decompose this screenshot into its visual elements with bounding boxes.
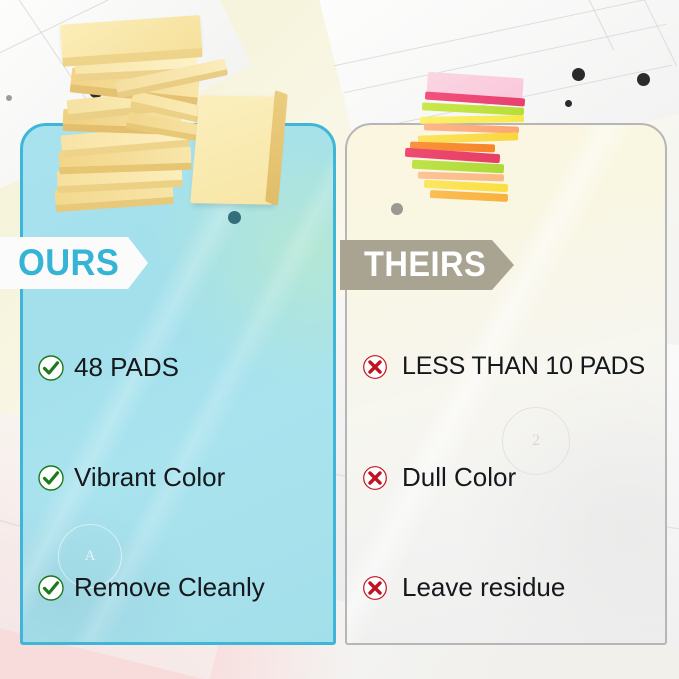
feature-label: LESS THAN 10 PADS: [402, 352, 645, 381]
feature-row: Dull Color: [362, 462, 516, 493]
cross-circle-icon: [362, 354, 388, 380]
check-circle-icon: [38, 355, 64, 381]
badge-ours-label: OURS: [18, 237, 119, 289]
cross-circle-icon: [362, 575, 388, 601]
blueprint-dot: [637, 73, 650, 86]
sticky-pad-amber: [430, 190, 508, 202]
badge-theirs: THEIRS: [340, 240, 514, 290]
infographic-canvas: A 2: [0, 0, 679, 679]
feature-label: Remove Cleanly: [74, 572, 265, 603]
check-circle-icon: [38, 465, 64, 491]
feature-label: Dull Color: [402, 462, 516, 493]
blueprint-dot: [6, 95, 12, 101]
sticky-pad-top: [60, 15, 202, 59]
feature-label: Leave residue: [402, 572, 565, 603]
feature-row: Remove Cleanly: [38, 572, 265, 603]
feature-row: Vibrant Color: [38, 462, 225, 493]
blueprint-dot: [565, 100, 572, 107]
product-image-theirs: [400, 75, 560, 215]
feature-row: 48 PADS: [38, 352, 179, 383]
badge-theirs-label: THEIRS: [364, 240, 486, 290]
check-circle-icon: [38, 575, 64, 601]
sticky-pad-yellow: [420, 115, 524, 124]
cross-circle-icon: [362, 465, 388, 491]
feature-row: Leave residue: [362, 572, 565, 603]
feature-label: Vibrant Color: [74, 462, 225, 493]
feature-row: LESS THAN 10 PADS: [362, 352, 645, 381]
badge-ours: OURS: [0, 237, 148, 289]
product-image-ours: [45, 8, 295, 223]
feature-label: 48 PADS: [74, 352, 179, 383]
blueprint-dot: [572, 68, 585, 81]
